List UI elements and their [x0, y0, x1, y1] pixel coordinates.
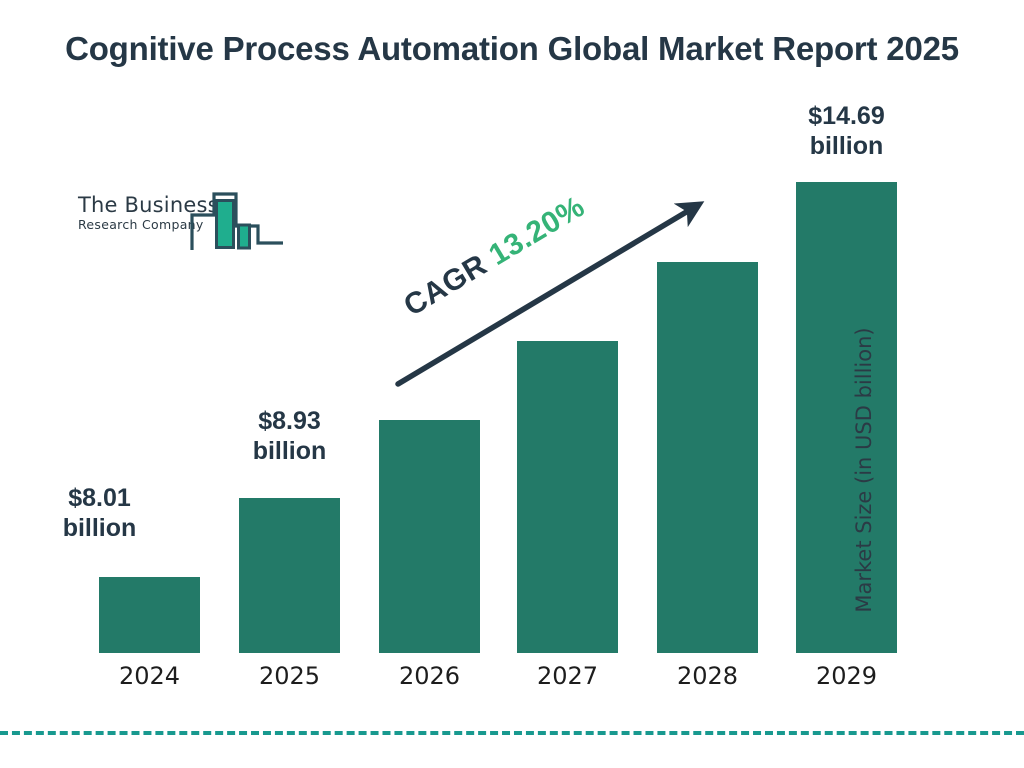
- x-tick-2024: 2024: [89, 662, 210, 690]
- x-tick-2025: 2025: [229, 662, 350, 690]
- chart-canvas: Cognitive Process Automation Global Mark…: [0, 0, 1024, 768]
- bar-2025[interactable]: [239, 498, 340, 653]
- bar-value-2024: $8.01 billion: [39, 483, 160, 543]
- x-tick-2028: 2028: [647, 662, 768, 690]
- y-axis-title: Market Size (in USD billion): [852, 300, 876, 640]
- cagr-annotation: CAGR 13.20%: [393, 192, 713, 392]
- x-tick-2029: 2029: [786, 662, 907, 690]
- x-tick-2027: 2027: [507, 662, 628, 690]
- footer-divider: [0, 731, 1024, 735]
- bar-value-2025: $8.93 billion: [219, 406, 360, 466]
- x-tick-2026: 2026: [369, 662, 490, 690]
- bar-2026[interactable]: [379, 420, 480, 653]
- bar-2024[interactable]: [99, 577, 200, 653]
- bar-2029[interactable]: [796, 182, 897, 653]
- bar-value-2029: $14.69 billion: [776, 101, 917, 161]
